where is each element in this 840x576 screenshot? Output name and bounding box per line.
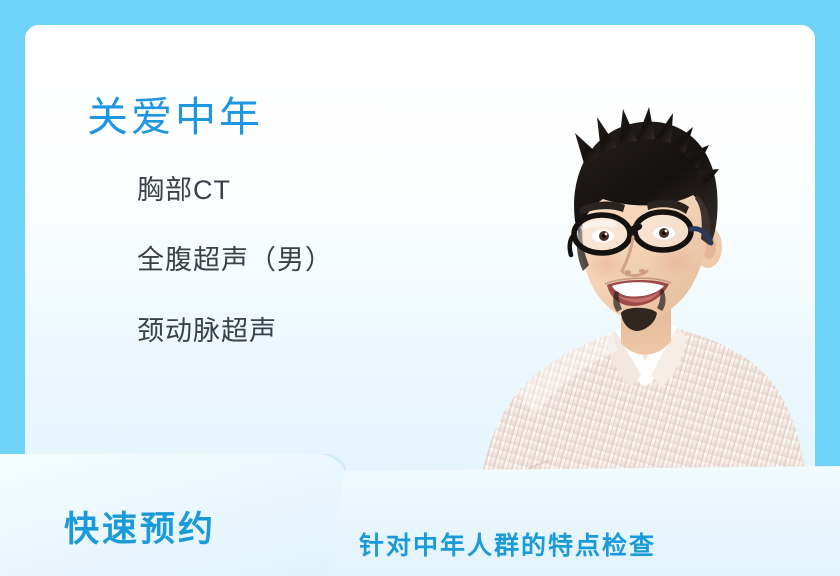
list-item: 颈动脉超声 — [137, 317, 517, 345]
quick-book-label: 快速预约 — [64, 501, 216, 552]
quick-book-button[interactable]: 快速预约 — [0, 454, 348, 576]
service-item-list: 胸部CT 全腹超声（男） 颈动脉超声 — [87, 176, 517, 345]
banner-tagline: 针对中年人群的特点检查 — [359, 526, 656, 562]
promo-banner-root: 关爱中年 胸部CT 全腹超声（男） 颈动脉超声 针对中年人群的特点检查 快速预约 — [0, 0, 840, 576]
list-item: 胸部CT — [137, 176, 517, 204]
promo-card: 关爱中年 胸部CT 全腹超声（男） 颈动脉超声 — [25, 25, 815, 525]
promo-text-block: 关爱中年 胸部CT 全腹超声（男） 颈动脉超声 — [87, 95, 517, 345]
list-item: 全腹超声（男） — [137, 246, 517, 274]
person-photo — [465, 75, 815, 525]
page-title: 关爱中年 — [87, 95, 517, 140]
